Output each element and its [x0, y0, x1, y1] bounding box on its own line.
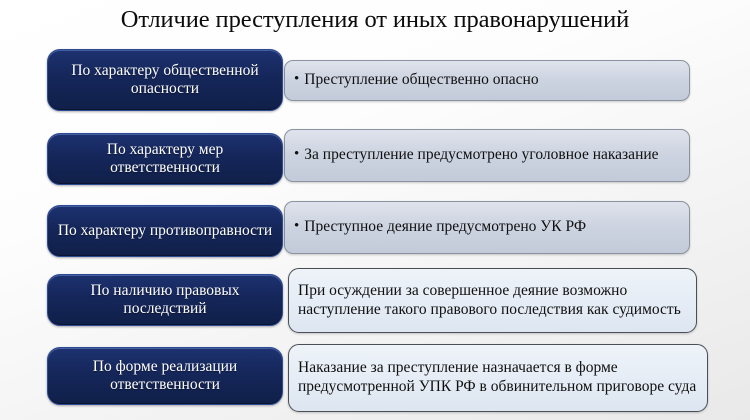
criterion-content-box[interactable]: Наказание за преступление назначается в …: [288, 344, 708, 412]
criterion-label-text: По характеру противоправности: [52, 222, 278, 240]
criterion-content-text: •Преступление общественно опасно: [285, 71, 549, 90]
criterion-content-value: Преступное деяние предусмотрено УК РФ: [304, 218, 586, 235]
criterion-content-box[interactable]: •За преступление предусмотрено уголовное…: [284, 129, 690, 182]
criterion-content-text: •За преступление предусмотрено уголовное…: [285, 146, 669, 165]
criterion-label-box[interactable]: По характеру противоправности: [47, 205, 283, 257]
criterion-content-box[interactable]: •Преступное деяние предусмотрено УК РФ: [284, 201, 690, 254]
criterion-content-box[interactable]: При осуждении за совершенное деяние возм…: [288, 268, 697, 333]
criterion-content-text: При осуждении за совершенное деяние возм…: [289, 282, 696, 320]
criterion-content-value: При осуждении за совершенное деяние возм…: [298, 282, 681, 318]
bullet-icon: •: [294, 219, 299, 234]
criterion-content-text: •Преступное деяние предусмотрено УК РФ: [285, 218, 596, 237]
criterion-label-text: По наличию правовых последствий: [48, 282, 282, 318]
criterion-label-text: По характеру общественной опасности: [48, 62, 282, 98]
criterion-label-box[interactable]: По характеру общественной опасности: [47, 49, 283, 111]
criterion-label-box[interactable]: По форме реализации ответственности: [47, 347, 283, 405]
criterion-content-value: Наказание за преступление назначается в …: [298, 359, 696, 395]
bullet-icon: •: [294, 147, 299, 162]
criterion-label-text: По форме реализации ответственности: [48, 358, 282, 394]
criterion-content-text: Наказание за преступление назначается в …: [289, 359, 707, 397]
slide-canvas: Отличие преступления от иных правонаруше…: [0, 0, 750, 420]
criterion-content-value: Преступление общественно опасно: [304, 71, 538, 88]
criterion-label-box[interactable]: По характеру мер ответственности: [47, 133, 283, 185]
bullet-icon: •: [294, 72, 299, 87]
criterion-label-text: По характеру мер ответственности: [48, 141, 282, 177]
criterion-content-box[interactable]: •Преступление общественно опасно: [284, 60, 690, 101]
criterion-content-value: За преступление предусмотрено уголовное …: [304, 146, 658, 163]
page-title: Отличие преступления от иных правонаруше…: [0, 6, 750, 34]
criterion-label-box[interactable]: По наличию правовых последствий: [47, 274, 283, 326]
